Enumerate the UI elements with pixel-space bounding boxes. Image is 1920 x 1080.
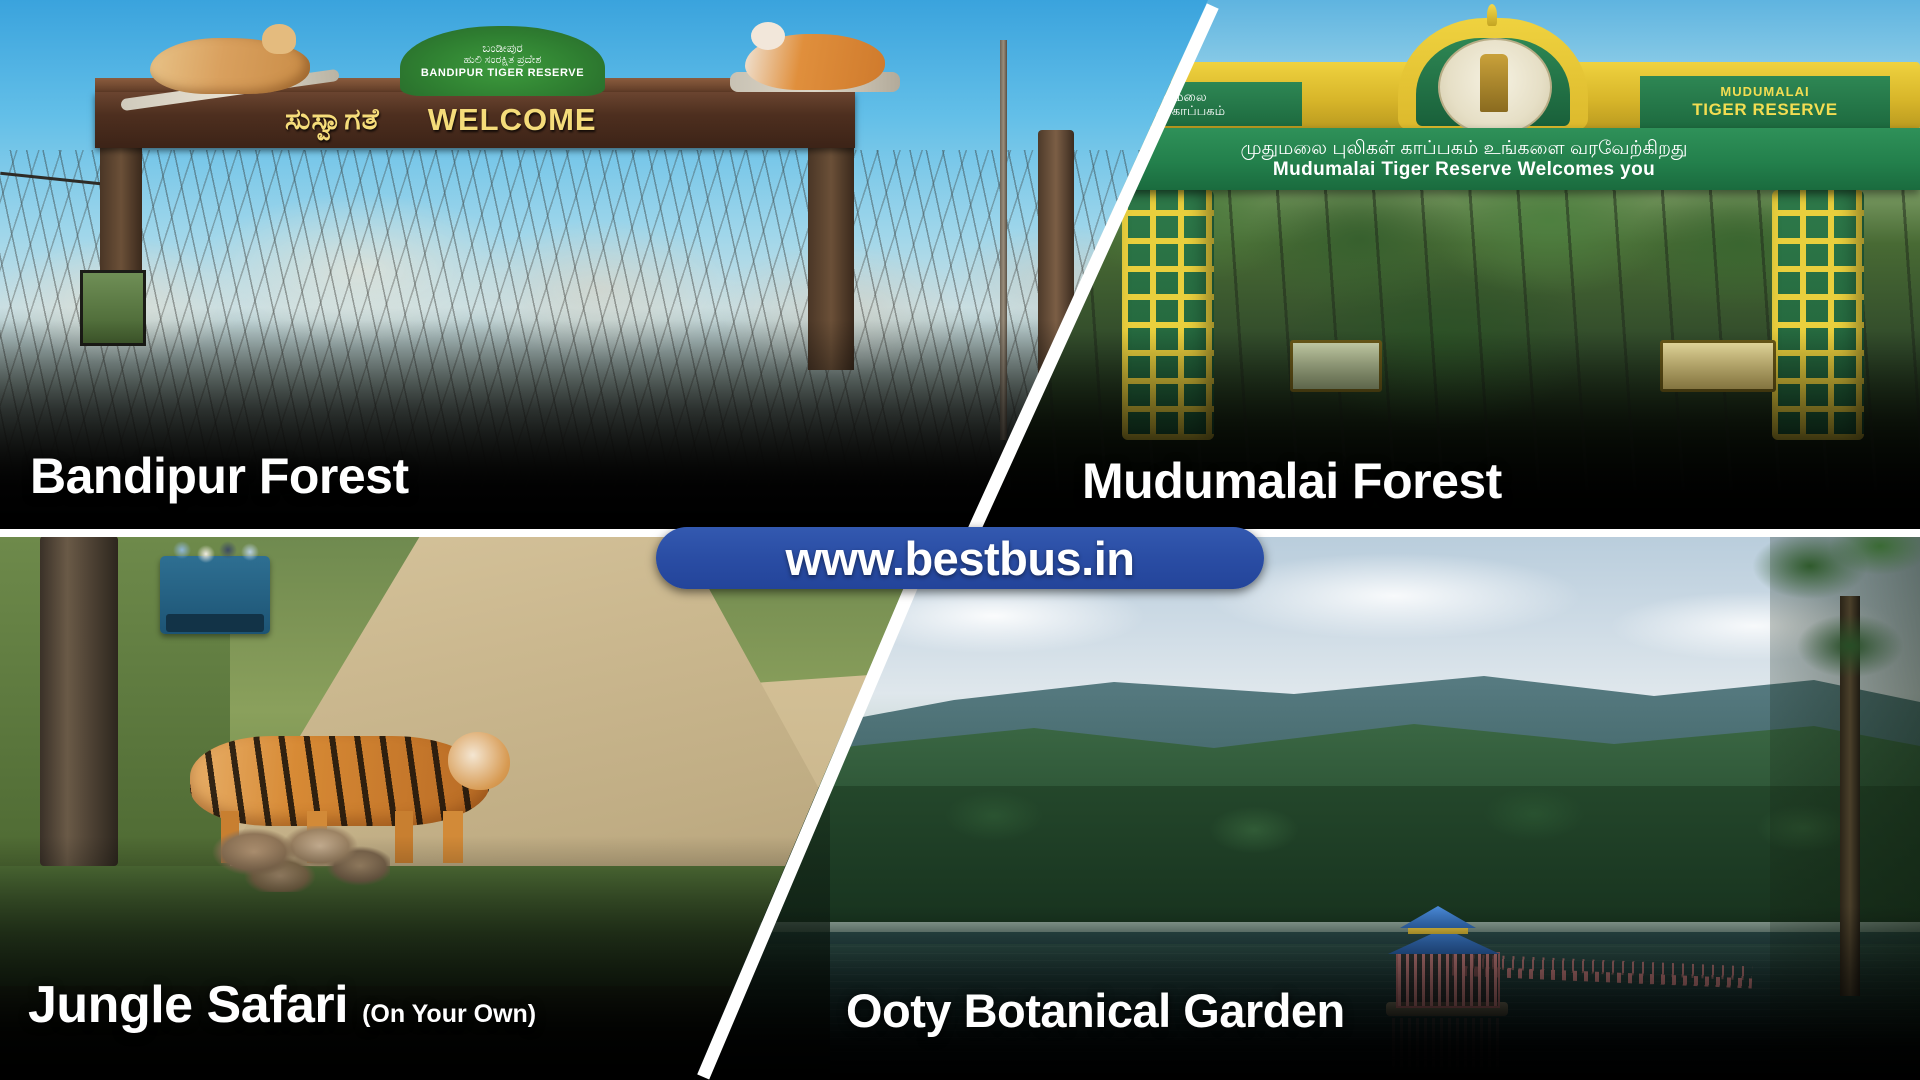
crest-finial-icon <box>1487 4 1497 26</box>
welcome-text-tamil: முதுமலை புலிகள் காப்பகம் உங்களை வரவேற்கி… <box>1240 138 1687 159</box>
reserve-name-english-line2: TIGER RESERVE <box>1692 100 1837 119</box>
welcome-text-english: Mudumalai Tiger Reserve Welcomes you <box>1273 159 1655 180</box>
website-url-text: www.bestbus.in <box>785 531 1134 586</box>
reserve-name-english-line1: MUDUMALAI <box>1720 85 1809 100</box>
tourists-distant <box>168 536 264 566</box>
caption-mudumalai-forest: Mudumalai Forest <box>1082 452 1502 510</box>
caption-bandipur-forest: Bandipur Forest <box>30 447 409 505</box>
caption-jungle-safari: Jungle Safari (On Your Own) <box>28 975 536 1035</box>
caption-jungle-safari-main: Jungle Safari <box>28 975 348 1035</box>
tamil-nadu-emblem-icon <box>1438 38 1552 136</box>
safari-jeep-distant <box>160 556 270 634</box>
reserve-name-kannada-line2: ಹುಲಿ ಸಂರಕ್ಷಿತ ಪ್ರದೇಶ <box>464 55 542 67</box>
foreground-tree-trunk <box>40 536 118 866</box>
welcome-text-kannada: ಸುಸ್ವಾಗತೆ <box>285 103 380 137</box>
caption-jungle-safari-suffix: (On Your Own) <box>362 1000 536 1029</box>
photo-collage: ಬಂಡೀಪುರ ಹುಲಿ ಸಂರಕ್ಷಿತ ಪ್ರದೇಶ BANDIPUR TI… <box>0 0 1920 1080</box>
bandipur-welcome-banner: ಸುಸ್ವಾಗತೆ WELCOME <box>95 92 855 148</box>
mudumalai-english-nameplate: MUDUMALAI TIGER RESERVE <box>1640 76 1890 128</box>
leopard-statue-icon <box>150 38 310 94</box>
overhanging-leaves <box>1740 536 1920 776</box>
reserve-name-kannada-line1: ಬಂಡೀಪುರ <box>482 42 523 55</box>
website-badge[interactable]: www.bestbus.in <box>656 527 1264 589</box>
tiger-statue-icon <box>745 34 885 90</box>
caption-ooty-botanical-garden: Ooty Botanical Garden <box>846 983 1345 1038</box>
reserve-name-english: BANDIPUR TIGER RESERVE <box>421 68 584 80</box>
welcome-text-english: WELCOME <box>428 102 597 138</box>
